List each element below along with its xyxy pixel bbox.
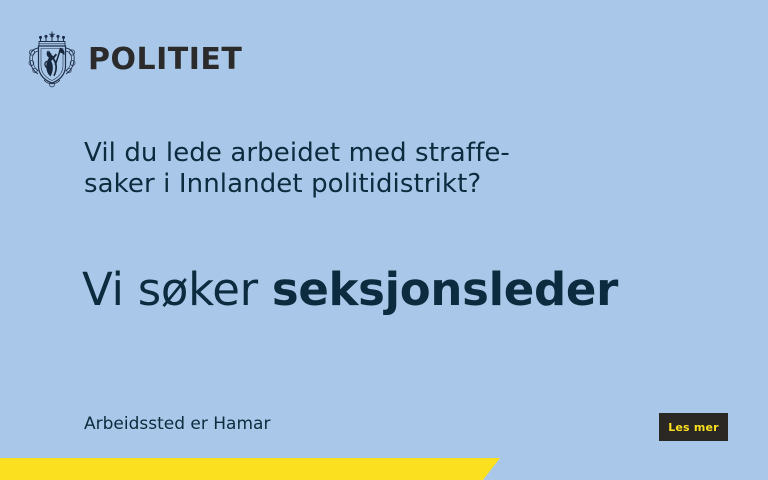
recruitment-banner: POLITIET Vil du lede arbeidet med straff… [0, 0, 768, 480]
les-mer-button[interactable]: Les mer [659, 413, 728, 441]
headline-prefix: Vi søker [82, 263, 272, 316]
lead-question-line-1: Vil du lede arbeidet med straffe- [84, 138, 644, 169]
norwegian-coat-of-arms-icon [26, 30, 78, 90]
politiet-logo[interactable]: POLITIET [26, 30, 242, 90]
workplace-location: Arbeidssted er Hamar [84, 414, 270, 435]
les-mer-button-label: Les mer [668, 422, 719, 433]
lead-question-line-2: saker i Innlandet politidistrikt? [84, 169, 644, 200]
headline: Vi søker seksjonsleder [82, 264, 618, 316]
yellow-accent-band [0, 458, 500, 480]
politiet-wordmark: POLITIET [88, 45, 242, 75]
headline-emphasis: seksjonsleder [272, 263, 618, 316]
lead-question: Vil du lede arbeidet med straffe- saker … [84, 138, 644, 200]
